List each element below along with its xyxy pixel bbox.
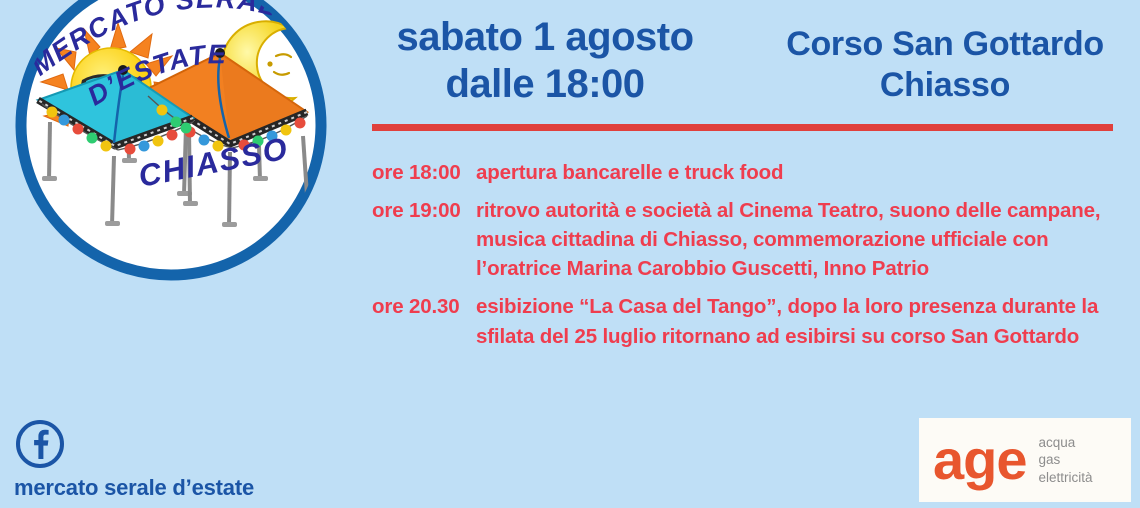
sponsor-tagline-line-3: elettricità xyxy=(1039,469,1093,486)
program-schedule: ore 18:00 apertura bancarelle e truck fo… xyxy=(372,158,1120,360)
social-block[interactable]: mercato serale d’estate xyxy=(14,418,254,501)
event-logo-badge: MERCATO SERALE D’ESTATE CHIASSO xyxy=(8,0,334,310)
event-location-line-1: Corso San Gottardo xyxy=(760,24,1130,65)
logo-circle-graphic: MERCATO SERALE D’ESTATE CHIASSO xyxy=(8,0,334,310)
sponsor-tagline: acqua gas elettricità xyxy=(1039,434,1093,486)
program-row: ore 18:00 apertura bancarelle e truck fo… xyxy=(372,158,1120,187)
sponsor-tagline-line-1: acqua xyxy=(1039,434,1093,451)
program-time: ore 20.30 xyxy=(372,292,476,321)
sponsor-logo-age: age acqua gas elettricità xyxy=(919,418,1131,502)
program-time: ore 18:00 xyxy=(372,158,476,187)
program-row: ore 19:00 ritrovo autorità e società al … xyxy=(372,196,1120,283)
sponsor-tagline-line-2: gas xyxy=(1039,451,1093,468)
event-poster: MERCATO SERALE D’ESTATE CHIASSO sabato 1… xyxy=(0,0,1140,508)
program-row: ore 20.30 esibizione “La Casa del Tango”… xyxy=(372,292,1120,350)
program-description: ritrovo autorità e società al Cinema Tea… xyxy=(476,196,1120,283)
program-description: esibizione “La Casa del Tango”, dopo la … xyxy=(476,292,1120,350)
event-date-line-1: sabato 1 agosto xyxy=(370,14,720,61)
event-date-line-2: dalle 18:00 xyxy=(370,61,720,108)
program-description: apertura bancarelle e truck food xyxy=(476,158,1120,187)
sponsor-wordmark: age xyxy=(933,437,1027,483)
event-location-heading: Corso San Gottardo Chiasso xyxy=(760,24,1130,107)
divider-rule xyxy=(372,124,1113,131)
facebook-icon[interactable] xyxy=(14,418,66,470)
event-location-line-2: Chiasso xyxy=(760,65,1130,106)
event-date-heading: sabato 1 agosto dalle 18:00 xyxy=(370,14,720,108)
program-time: ore 19:00 xyxy=(372,196,476,225)
social-page-name: mercato serale d’estate xyxy=(14,475,254,501)
